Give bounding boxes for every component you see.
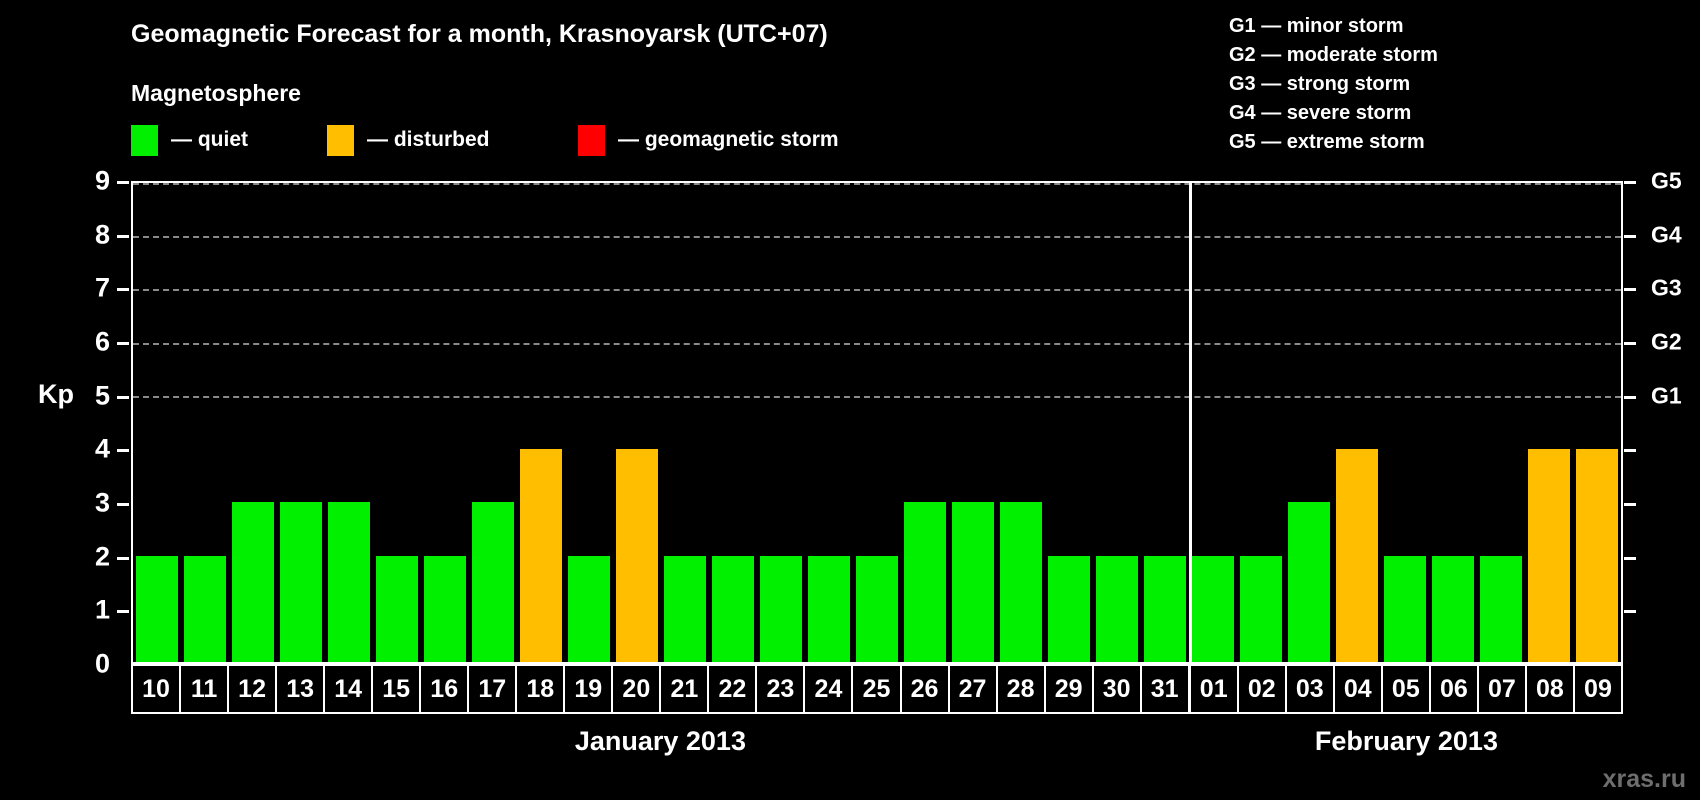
day-cell[interactable]: 02 (1239, 666, 1287, 712)
day-cell[interactable]: 13 (277, 666, 325, 712)
y-tick-label: 0 (70, 649, 110, 680)
bar (616, 449, 657, 662)
bar (328, 502, 369, 662)
day-cell[interactable]: 20 (613, 666, 661, 712)
bar-slot (1381, 183, 1429, 662)
bar-slot (805, 183, 853, 662)
g-scale-legend: G1 — minor stormG2 — moderate stormG3 — … (1229, 12, 1438, 157)
g-tick-label: G1 (1651, 382, 1682, 409)
bar-slot (997, 183, 1045, 662)
bar-slot (949, 183, 997, 662)
bar-slot (1141, 183, 1189, 662)
plot-inner (133, 183, 1621, 662)
bar-slot (133, 183, 181, 662)
y-tick-mark (117, 288, 129, 291)
bar-slot (853, 183, 901, 662)
day-cell[interactable]: 10 (133, 666, 181, 712)
legend-label: — disturbed (367, 128, 490, 152)
legend-entry: — geomagnetic storm (578, 124, 839, 156)
bar (808, 556, 849, 662)
bar (1240, 556, 1281, 662)
bar (1048, 556, 1089, 662)
g-tick-mark (1624, 235, 1636, 238)
day-cell[interactable]: 03 (1287, 666, 1335, 712)
day-cell[interactable]: 06 (1431, 666, 1479, 712)
g-legend-row: G2 — moderate storm (1229, 41, 1438, 70)
day-cell[interactable]: 29 (1046, 666, 1094, 712)
bar (1096, 556, 1137, 662)
day-cell[interactable]: 14 (325, 666, 373, 712)
bar-slot (1429, 183, 1477, 662)
bar-slot (325, 183, 373, 662)
month-caption: February 2013 (1315, 726, 1498, 757)
day-cell[interactable]: 27 (950, 666, 998, 712)
legend-label: — quiet (171, 128, 248, 152)
bar-slot (421, 183, 469, 662)
g-tick-mark (1624, 610, 1636, 613)
day-cell[interactable]: 09 (1575, 666, 1621, 712)
y-tick-label: 3 (70, 488, 110, 519)
y-tick-label: 4 (70, 434, 110, 465)
g-legend-row: G4 — severe storm (1229, 99, 1438, 128)
g-tick-mark (1624, 181, 1636, 184)
bar-slot (1477, 183, 1525, 662)
bar-slot (1333, 183, 1381, 662)
bar (424, 556, 465, 662)
y-tick-mark (117, 503, 129, 506)
bar-slot (229, 183, 277, 662)
bar (136, 556, 177, 662)
day-cell[interactable]: 01 (1191, 666, 1239, 712)
orange-swatch (327, 125, 354, 156)
bar-slot (1093, 183, 1141, 662)
g-tick-mark (1624, 396, 1636, 399)
day-cell[interactable]: 04 (1335, 666, 1383, 712)
bar (760, 556, 801, 662)
y-tick-label: 5 (70, 380, 110, 411)
day-cell[interactable]: 12 (229, 666, 277, 712)
y-tick-label: 6 (70, 327, 110, 358)
day-cell[interactable]: 18 (517, 666, 565, 712)
day-cell[interactable]: 11 (181, 666, 229, 712)
day-cell[interactable]: 15 (373, 666, 421, 712)
page-title: Geomagnetic Forecast for a month, Krasno… (131, 20, 828, 49)
g-tick-mark (1624, 557, 1636, 560)
bar (232, 502, 273, 662)
bar-slot (181, 183, 229, 662)
day-cell[interactable]: 16 (421, 666, 469, 712)
g-tick-label: G5 (1651, 168, 1682, 195)
bar (1528, 449, 1569, 662)
day-cell[interactable]: 23 (757, 666, 805, 712)
bar (1432, 556, 1473, 662)
day-cell[interactable]: 22 (709, 666, 757, 712)
bar (520, 449, 561, 662)
bar-slot (1189, 183, 1237, 662)
g-tick-label: G4 (1651, 221, 1682, 248)
g-tick-mark (1624, 503, 1636, 506)
g-tick-mark (1624, 342, 1636, 345)
bar-slot (469, 183, 517, 662)
bar-slot (1525, 183, 1573, 662)
month-caption: January 2013 (575, 726, 746, 757)
green-swatch (131, 125, 158, 156)
bar (1288, 502, 1329, 662)
y-tick-label: 8 (70, 219, 110, 250)
bar-slot (373, 183, 421, 662)
g-tick-label: G2 (1651, 329, 1682, 356)
bar (664, 556, 705, 662)
magnetosphere-label: Magnetosphere (131, 80, 301, 107)
bar (280, 502, 321, 662)
bar-slot (709, 183, 757, 662)
y-tick-mark (117, 557, 129, 560)
legend-entry: — disturbed (327, 124, 490, 156)
day-cell[interactable]: 26 (902, 666, 950, 712)
bar (1336, 449, 1377, 662)
g-legend-row: G3 — strong storm (1229, 70, 1438, 99)
bar-slot (757, 183, 805, 662)
y-tick-label: 1 (70, 595, 110, 626)
bar-slot (565, 183, 613, 662)
bar-slot (1045, 183, 1093, 662)
day-cell[interactable]: 05 (1383, 666, 1431, 712)
bar (1384, 556, 1425, 662)
y-axis-title: Kp (38, 379, 74, 410)
day-cell[interactable]: 28 (998, 666, 1046, 712)
g-tick-mark (1624, 288, 1636, 291)
bar (856, 556, 897, 662)
y-tick-label: 9 (70, 166, 110, 197)
bar (568, 556, 609, 662)
bar (952, 502, 993, 662)
y-tick-mark (117, 449, 129, 452)
plot-area (131, 181, 1623, 664)
day-cell[interactable]: 19 (565, 666, 613, 712)
bar-slot (1573, 183, 1621, 662)
bar-slot (661, 183, 709, 662)
bar-slot (517, 183, 565, 662)
bar (712, 556, 753, 662)
bar-slot (277, 183, 325, 662)
bar-slot (613, 183, 661, 662)
legend-entry: — quiet (131, 124, 248, 156)
bar (184, 556, 225, 662)
y-tick-mark (117, 610, 129, 613)
bar (1480, 556, 1521, 662)
bar-series (133, 183, 1621, 662)
day-cell[interactable]: 17 (469, 666, 517, 712)
bar (1576, 449, 1617, 662)
g-tick-label: G3 (1651, 275, 1682, 302)
bar (1192, 556, 1233, 662)
g-tick-mark (1624, 449, 1636, 452)
day-cell[interactable]: 30 (1094, 666, 1142, 712)
day-cell[interactable]: 31 (1142, 666, 1191, 712)
red-swatch (578, 125, 605, 156)
g-legend-row: G5 — extreme storm (1229, 128, 1438, 157)
day-cell[interactable]: 08 (1527, 666, 1575, 712)
bar (376, 556, 417, 662)
day-cell[interactable]: 24 (805, 666, 853, 712)
bar (904, 502, 945, 662)
bar (1144, 556, 1185, 662)
day-cell[interactable]: 21 (661, 666, 709, 712)
day-cell[interactable]: 25 (853, 666, 901, 712)
watermark: xras.ru (1603, 765, 1686, 794)
day-cell[interactable]: 07 (1479, 666, 1527, 712)
bar-slot (1237, 183, 1285, 662)
bar (1000, 502, 1041, 662)
g-legend-row: G1 — minor storm (1229, 12, 1438, 41)
bar-slot (1285, 183, 1333, 662)
legend-label: — geomagnetic storm (618, 128, 839, 152)
bar-slot (901, 183, 949, 662)
bar (472, 502, 513, 662)
day-axis: 1011121314151617181920212223242526272829… (131, 664, 1623, 714)
y-tick-label: 2 (70, 541, 110, 572)
y-tick-label: 7 (70, 273, 110, 304)
y-tick-mark (117, 181, 129, 184)
y-tick-mark (117, 396, 129, 399)
y-tick-mark (117, 342, 129, 345)
y-tick-mark (117, 235, 129, 238)
